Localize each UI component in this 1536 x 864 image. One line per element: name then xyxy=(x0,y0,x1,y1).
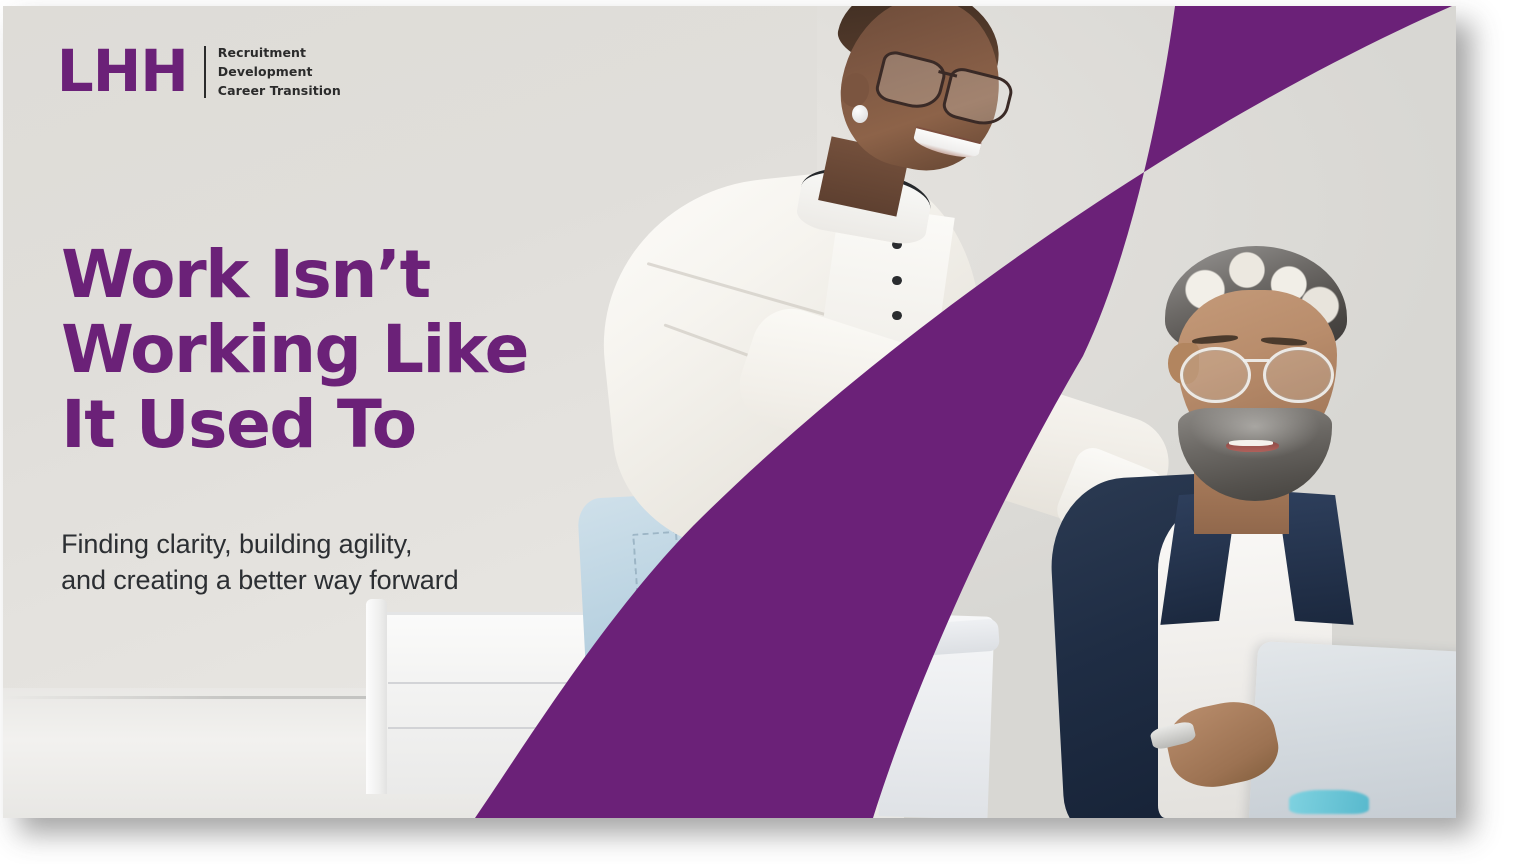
subheadline-line-2: and creating a better way forward xyxy=(61,562,458,598)
presentation-slide: LHH Recruitment Development Career Trans… xyxy=(3,6,1456,818)
lhh-logo-mark: LHH xyxy=(57,48,188,96)
logo-taglines: Recruitment Development Career Transitio… xyxy=(218,43,341,100)
slide-headline: Work Isn’t Working Like It Used To xyxy=(61,237,528,463)
screenshot-canvas: LHH Recruitment Development Career Trans… xyxy=(0,0,1536,864)
slide-text-content: LHH Recruitment Development Career Trans… xyxy=(3,6,1456,818)
slide-subheadline: Finding clarity, building agility, and c… xyxy=(61,526,458,598)
lhh-logo[interactable]: LHH Recruitment Development Career Trans… xyxy=(57,43,341,100)
logo-tagline-development: Development xyxy=(218,62,341,81)
logo-tagline-recruitment: Recruitment xyxy=(218,43,341,62)
subheadline-line-1: Finding clarity, building agility, xyxy=(61,526,458,562)
logo-divider xyxy=(204,46,206,98)
headline-line-2: Working Like xyxy=(61,312,528,387)
headline-line-3: It Used To xyxy=(61,387,528,462)
headline-line-1: Work Isn’t xyxy=(61,237,528,312)
logo-tagline-career-transition: Career Transition xyxy=(218,81,341,100)
